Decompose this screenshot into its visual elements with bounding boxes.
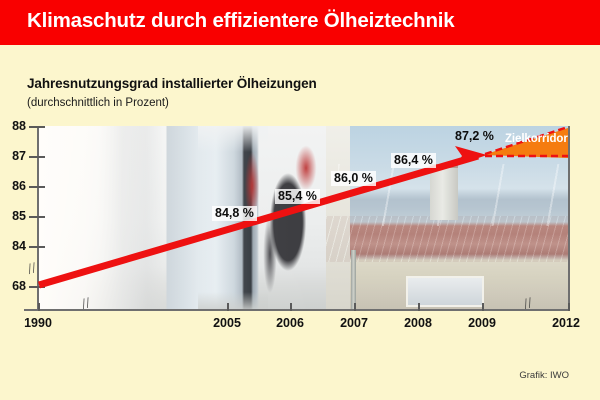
x-tick-2005 [227,303,229,311]
x-tick-2007 [354,303,356,311]
x-axis-label-1990: 1990 [24,316,52,330]
tank-top-shading [198,126,268,152]
x-tick-2008 [418,303,420,311]
y-tick-86 [29,186,45,188]
value-label-2008: 86,4 % [391,153,436,168]
value-label-2009: 87,2 % [452,129,497,144]
y-tick-68 [29,286,45,288]
chimney [430,164,458,220]
tank-bottom-shading [198,292,268,310]
y-tick-84 [29,246,45,248]
y-axis-label-86: 86 [0,179,26,193]
value-label-2005: 84,8 % [212,206,257,221]
header-title: Klimaschutz durch effizientere Ölheiztec… [27,9,455,33]
x-tick-2006 [290,303,292,311]
y-axis-label-68: 68 [0,279,26,293]
y-tick-87 [29,156,45,158]
y-axis [37,126,39,310]
x-axis [24,309,570,311]
credit-text: Grafik: IWO [519,370,569,381]
y-axis-label-87: 87 [0,149,26,163]
y-tick-88 [29,126,45,128]
infographic-page: Klimaschutz durch effizientere Ölheiztec… [0,0,600,400]
zielkorridor-label: Zielkorridor [505,133,568,145]
chart-title: Jahresnutzungsgrad installierter Ölheizu… [27,76,317,91]
x-axis-label-2007: 2007 [340,316,368,330]
downpipe [351,250,356,310]
chart-subtitle: (durchschnittlich in Prozent) [27,97,169,109]
boiler-room-photo [38,126,328,310]
x-axis-label-2006: 2006 [276,316,304,330]
y-axis-label-85: 85 [0,209,26,223]
y-axis-label-88: 88 [0,119,26,133]
value-label-2006: 85,4 % [275,189,320,204]
value-label-2007: 86,0 % [331,171,376,186]
y-axis-label-84: 84 [0,239,26,253]
x-axis-label-2012: 2012 [552,316,580,330]
x-tick-2012 [568,303,570,311]
x-tick-2009 [482,303,484,311]
x-axis-label-2009: 2009 [468,316,496,330]
plot-area [38,126,568,310]
header-bar: Klimaschutz durch effizientere Ölheiztec… [0,0,600,45]
plot-right-border [568,126,570,310]
x-axis-label-2008: 2008 [404,316,432,330]
x-axis-label-2005: 2005 [213,316,241,330]
x-tick-1990 [38,303,40,311]
y-tick-85 [29,216,45,218]
